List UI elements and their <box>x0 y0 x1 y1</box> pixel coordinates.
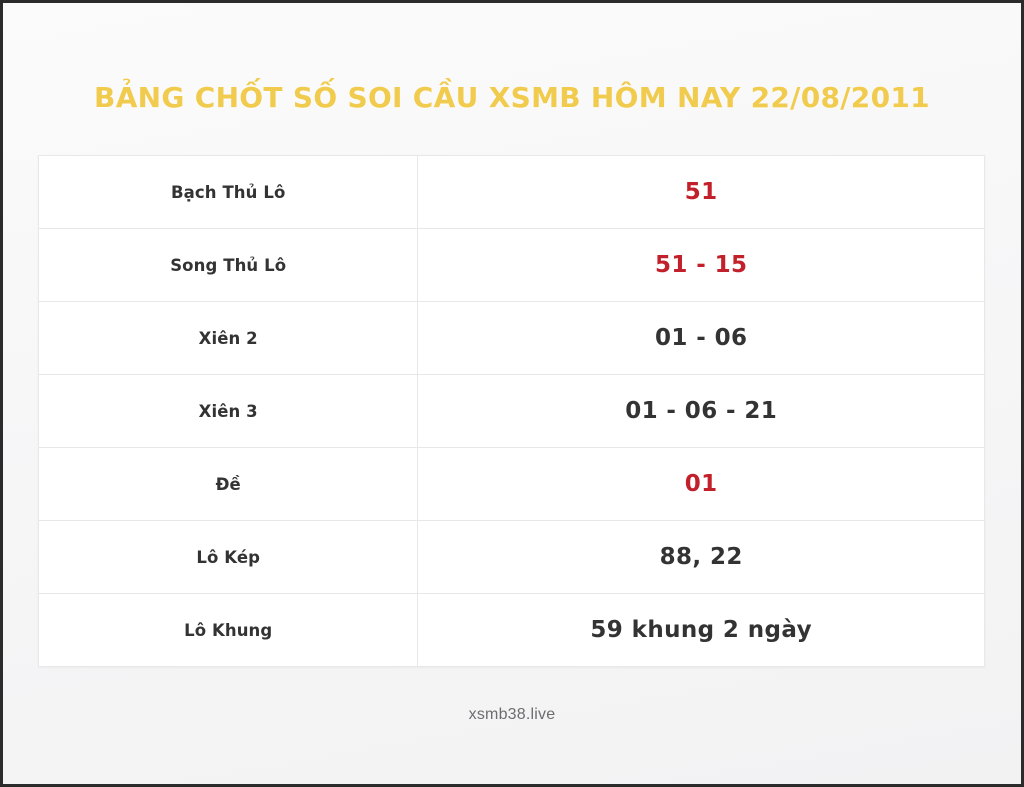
row-label: Bạch Thủ Lô <box>39 156 418 229</box>
row-value: 88, 22 <box>418 521 985 594</box>
row-label: Xiên 2 <box>39 302 418 375</box>
row-label: Song Thủ Lô <box>39 229 418 302</box>
table-row: Lô Kép 88, 22 <box>39 521 985 594</box>
prediction-table-body: Bạch Thủ Lô 51 Song Thủ Lô 51 - 15 Xiên … <box>39 156 985 667</box>
table-row: Xiên 2 01 - 06 <box>39 302 985 375</box>
row-value: 51 - 15 <box>418 229 985 302</box>
table-row: Xiên 3 01 - 06 - 21 <box>39 375 985 448</box>
page-title: BẢNG CHỐT SỐ SOI CẦU XSMB HÔM NAY 22/08/… <box>3 81 1021 114</box>
row-label: Lô Kép <box>39 521 418 594</box>
row-value: 01 <box>418 448 985 521</box>
row-value: 51 <box>418 156 985 229</box>
table-row: Song Thủ Lô 51 - 15 <box>39 229 985 302</box>
row-value: 01 - 06 - 21 <box>418 375 985 448</box>
row-label: Lô Khung <box>39 594 418 667</box>
table-row: Đề 01 <box>39 448 985 521</box>
table-row: Lô Khung 59 khung 2 ngày <box>39 594 985 667</box>
row-value: 59 khung 2 ngày <box>418 594 985 667</box>
row-value: 01 - 06 <box>418 302 985 375</box>
site-watermark: xsmb38.live <box>3 706 1021 724</box>
prediction-table: Bạch Thủ Lô 51 Song Thủ Lô 51 - 15 Xiên … <box>38 155 985 667</box>
row-label: Xiên 3 <box>39 375 418 448</box>
prediction-card: BẢNG CHỐT SỐ SOI CẦU XSMB HÔM NAY 22/08/… <box>3 3 1021 784</box>
table-row: Bạch Thủ Lô 51 <box>39 156 985 229</box>
row-label: Đề <box>39 448 418 521</box>
